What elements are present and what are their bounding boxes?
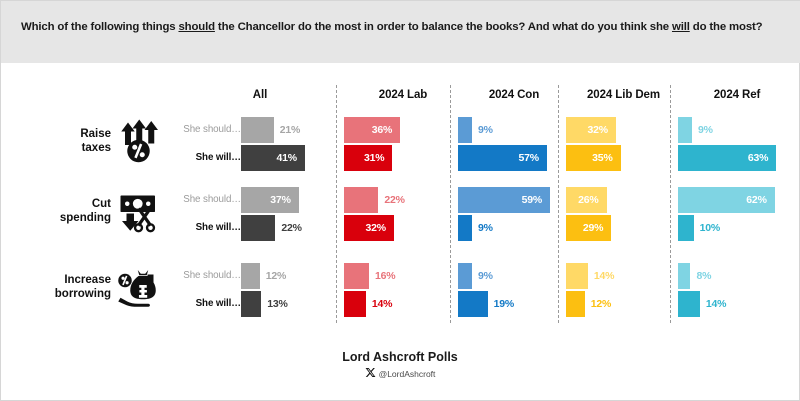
column-header-2024-lib-dem: 2024 Lib Dem (566, 89, 681, 101)
series-label-should-row-2: She should… (163, 194, 241, 206)
bar-should-2024-ref-row-1: 9% (678, 117, 692, 143)
bar-value-label: 16% (375, 263, 395, 289)
header-band: Which of the following things should the… (1, 1, 800, 63)
row-label-line1: Raise (19, 127, 111, 141)
bar-value-label: 62% (746, 187, 766, 213)
row-label-line2: borrowing (19, 287, 111, 301)
bar-will-2024-ref-row-2: 10% (678, 215, 694, 241)
bar-value-label: 29% (583, 215, 603, 241)
bar-value-label: 31% (364, 145, 384, 171)
column-divider-1 (336, 85, 337, 323)
bar-should-2024-con-row-3: 9% (458, 263, 472, 289)
bar-value-label: 32% (587, 117, 607, 143)
bar-value-label: 9% (478, 215, 493, 241)
series-label-should-row-1: She should… (163, 124, 241, 136)
row-label-increase: Increaseborrowing (19, 273, 111, 301)
bar-should-2024-con-row-2: 59% (458, 187, 550, 213)
row-label-line2: spending (19, 211, 111, 225)
bar-value-label: 9% (478, 263, 493, 289)
bar-should-2024-con-row-1: 9% (458, 117, 472, 143)
bar-should-all-row-2: 37% (241, 187, 299, 213)
bar-value-label: 14% (372, 291, 392, 317)
bar-value-label: 22% (281, 215, 301, 241)
bar-should-2024-lab-row-2: 22% (344, 187, 378, 213)
brand-title: Lord Ashcroft Polls (1, 350, 799, 364)
row-label-line1: Cut (19, 197, 111, 211)
percent-up-arrows-icon (116, 119, 164, 165)
bar-should-all-row-3: 12% (241, 263, 260, 289)
column-header-all: All (185, 89, 335, 101)
poll-chart-slide: Which of the following things should the… (0, 0, 800, 401)
bar-value-label: 12% (591, 291, 611, 317)
bar-will-2024-lab-row-3: 14% (344, 291, 366, 317)
bar-value-label: 10% (700, 215, 720, 241)
column-header-2024-lab: 2024 Lab (344, 89, 462, 101)
bar-should-2024-lib-dem-row-1: 32% (566, 117, 616, 143)
row-label-line2: taxes (19, 141, 111, 155)
bar-value-label: 12% (266, 263, 286, 289)
bar-value-label: 8% (696, 263, 711, 289)
bar-should-2024-lab-row-1: 36% (344, 117, 400, 143)
bar-will-all-row-2: 22% (241, 215, 275, 241)
bar-value-label: 9% (478, 117, 493, 143)
social-handle-line: @LordAshcroft (1, 367, 799, 379)
bar-value-label: 9% (698, 117, 713, 143)
column-divider-2 (450, 85, 451, 323)
column-divider-3 (558, 85, 559, 323)
bar-value-label: 19% (494, 291, 514, 317)
bar-will-2024-lab-row-1: 31% (344, 145, 392, 171)
row-label-cut: Cutspending (19, 197, 111, 225)
x-twitter-icon (365, 367, 376, 378)
row-label-raise: Raisetaxes (19, 127, 111, 155)
bar-should-2024-lab-row-3: 16% (344, 263, 369, 289)
bar-value-label: 14% (594, 263, 614, 289)
bar-will-2024-lib-dem-row-3: 12% (566, 291, 585, 317)
banknote-scissors-icon (116, 189, 164, 235)
page-title: Which of the following things should the… (21, 21, 787, 33)
bar-will-all-row-3: 13% (241, 291, 261, 317)
bar-will-2024-lib-dem-row-2: 29% (566, 215, 611, 241)
bar-value-label: 22% (384, 187, 404, 213)
bar-will-2024-lib-dem-row-1: 35% (566, 145, 621, 171)
bar-value-label: 57% (518, 145, 538, 171)
bar-should-all-row-1: 21% (241, 117, 274, 143)
bar-value-label: 63% (748, 145, 768, 171)
bar-value-label: 14% (706, 291, 726, 317)
bar-should-2024-lib-dem-row-3: 14% (566, 263, 588, 289)
title-emphasis-should: should (178, 21, 214, 33)
bar-will-2024-ref-row-1: 63% (678, 145, 776, 171)
column-divider-4 (670, 85, 671, 323)
column-header-2024-con: 2024 Con (458, 89, 570, 101)
title-emphasis-will: will (672, 21, 690, 33)
bar-value-label: 21% (280, 117, 300, 143)
column-header-2024-ref: 2024 Ref (678, 89, 796, 101)
series-label-will-row-3: She will… (163, 298, 241, 310)
series-label-should-row-3: She should… (163, 270, 241, 282)
bar-will-2024-con-row-2: 9% (458, 215, 472, 241)
bar-will-2024-con-row-1: 57% (458, 145, 547, 171)
bar-will-2024-ref-row-3: 14% (678, 291, 700, 317)
bar-value-label: 26% (578, 187, 598, 213)
row-label-line1: Increase (19, 273, 111, 287)
bar-value-label: 13% (267, 291, 287, 317)
social-handle-text: @LordAshcroft (379, 369, 436, 379)
bar-value-label: 35% (592, 145, 612, 171)
bar-will-all-row-1: 41% (241, 145, 305, 171)
bar-value-label: 32% (365, 215, 385, 241)
bar-value-label: 59% (522, 187, 542, 213)
bar-will-2024-con-row-3: 19% (458, 291, 488, 317)
bar-value-label: 36% (372, 117, 392, 143)
bar-should-2024-ref-row-2: 62% (678, 187, 775, 213)
bar-will-2024-lab-row-2: 32% (344, 215, 394, 241)
series-label-will-row-1: She will… (163, 152, 241, 164)
bar-should-2024-lib-dem-row-2: 26% (566, 187, 607, 213)
bar-value-label: 37% (270, 187, 290, 213)
series-label-will-row-2: She will… (163, 222, 241, 234)
bar-value-label: 41% (277, 145, 297, 171)
bar-should-2024-ref-row-3: 8% (678, 263, 690, 289)
money-bag-hand-icon (116, 265, 164, 311)
